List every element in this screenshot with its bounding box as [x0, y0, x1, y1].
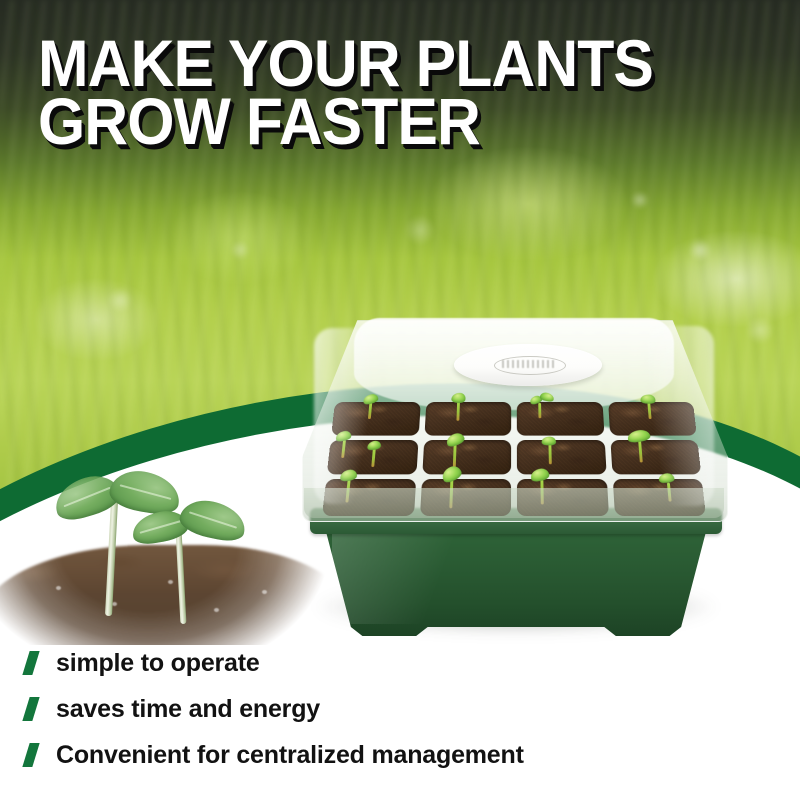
feature-label: Convenient for centralized management	[56, 741, 524, 770]
feature-item: Convenient for centralized management	[22, 732, 762, 778]
slash-bullet-icon	[22, 651, 39, 675]
headline-line-2: GROW FASTER	[38, 92, 653, 150]
feature-item: simple to operate	[22, 640, 762, 686]
slash-bullet-icon	[22, 697, 39, 721]
feature-item: saves time and energy	[22, 686, 762, 732]
headline: MAKE YOUR PLANTS GROW FASTER	[38, 34, 707, 150]
feature-label: saves time and energy	[56, 695, 320, 724]
product-marketing-banner: MAKE YOUR PLANTS GROW FASTER	[0, 0, 800, 800]
feature-label: simple to operate	[56, 649, 260, 678]
slash-bullet-icon	[22, 743, 39, 767]
feature-list: simple to operate saves time and energy …	[22, 640, 762, 778]
